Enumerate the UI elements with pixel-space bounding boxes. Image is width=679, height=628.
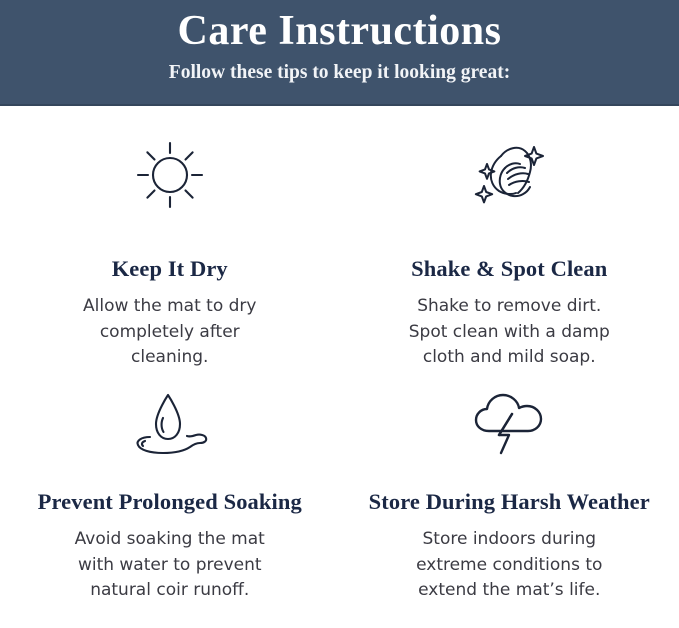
care-tip-card-prevent-prolonged-soaking: Prevent Prolonged Soaking Avoid soaking … (0, 368, 340, 628)
card-description-line: Store indoors during (416, 527, 602, 553)
card-title: Prevent Prolonged Soaking (38, 488, 302, 516)
sun-icon (130, 136, 210, 214)
care-tip-card-store-during-harsh-weather: Store During Harsh Weather Store indoors… (340, 368, 679, 628)
card-title-line: Store During (369, 489, 495, 514)
card-description: Store indoors during extreme conditions … (416, 527, 602, 604)
care-tip-card-shake-spot-clean: Shake & Spot Clean Shake to remove dirt.… (340, 106, 679, 368)
card-title: Shake & Spot Clean (411, 255, 607, 283)
card-description: Avoid soaking the mat with water to prev… (75, 527, 265, 604)
card-description-line: cloth and mild soap. (409, 345, 610, 371)
card-title-line: Harsh Weather (501, 489, 650, 514)
card-title-line: Prevent Prolonged (38, 489, 218, 514)
storm-cloud-lightning-icon (467, 384, 551, 462)
card-description-line: completely after (83, 320, 256, 346)
hand-wiping-sparkle-icon (468, 136, 550, 214)
card-description-line: Spot clean with a damp (409, 320, 610, 346)
card-description-line: extend the mat’s life. (416, 578, 602, 604)
card-description-line: with water to prevent (75, 553, 265, 579)
card-description: Allow the mat to dry completely after cl… (83, 294, 256, 371)
card-title-line: Soaking (224, 489, 302, 514)
page-header: Care Instructions Follow these tips to k… (0, 0, 679, 106)
page-subtitle: Follow these tips to keep it looking gre… (169, 60, 510, 86)
card-description-line: Allow the mat to dry (83, 294, 256, 320)
care-tips-grid: Keep It Dry Allow the mat to dry complet… (0, 106, 679, 628)
care-instructions-page: Care Instructions Follow these tips to k… (0, 0, 679, 628)
card-description-line: Shake to remove dirt. (409, 294, 610, 320)
card-description-line: natural coir runoff. (75, 578, 265, 604)
card-title: Store During Harsh Weather (369, 488, 650, 516)
card-description: Shake to remove dirt. Spot clean with a … (409, 294, 610, 371)
card-description-line: extreme conditions to (416, 553, 602, 579)
card-description-line: Avoid soaking the mat (75, 527, 265, 553)
care-tip-card-keep-it-dry: Keep It Dry Allow the mat to dry complet… (0, 106, 340, 368)
water-droplet-puddle-icon (124, 384, 216, 462)
card-title: Keep It Dry (112, 255, 228, 283)
card-description-line: cleaning. (83, 345, 256, 371)
page-title: Care Instructions (178, 6, 502, 56)
